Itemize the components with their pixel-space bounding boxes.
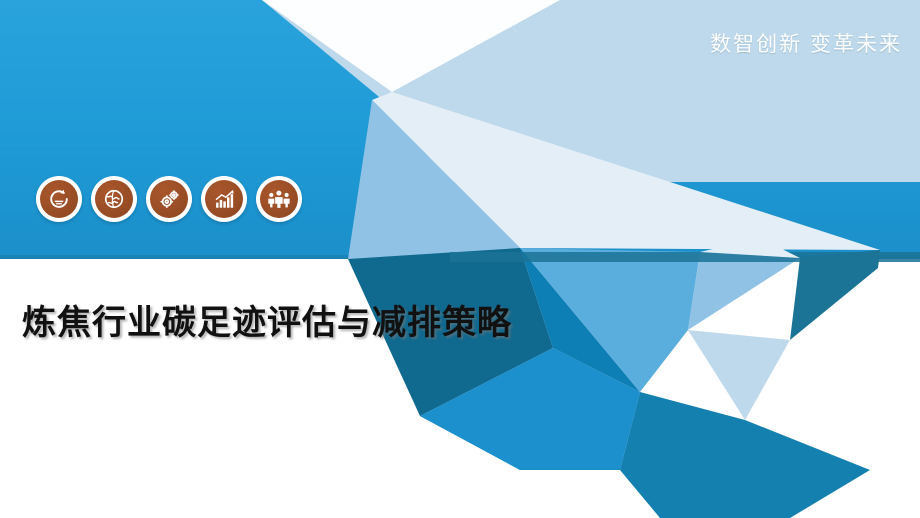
recycle-arrow-icon xyxy=(40,180,78,218)
poly-right-deep xyxy=(790,250,880,340)
icon-badge-gears[interactable] xyxy=(146,176,192,222)
slide-canvas: 数智创新 变革未来 xyxy=(0,0,920,518)
feature-icon-row xyxy=(36,176,302,222)
poly-band-edge-dark-right xyxy=(450,252,920,262)
poly-right-accent xyxy=(688,330,790,420)
icon-badge-recycle[interactable] xyxy=(36,176,82,222)
page-title: 炼焦行业碳足迹评估与减排策略 xyxy=(22,300,542,347)
icon-badge-globe[interactable] xyxy=(91,176,137,222)
globe-icon xyxy=(95,180,133,218)
poly-light-right xyxy=(688,252,800,330)
bar-chart-growth-icon xyxy=(205,180,243,218)
icon-badge-bar-chart[interactable] xyxy=(201,176,247,222)
icon-badge-people[interactable] xyxy=(256,176,302,222)
tagline-text: 数智创新 变革未来 xyxy=(710,28,902,58)
people-group-icon xyxy=(260,180,298,218)
gears-icon xyxy=(150,180,188,218)
geometric-polygon-artwork xyxy=(0,0,920,518)
